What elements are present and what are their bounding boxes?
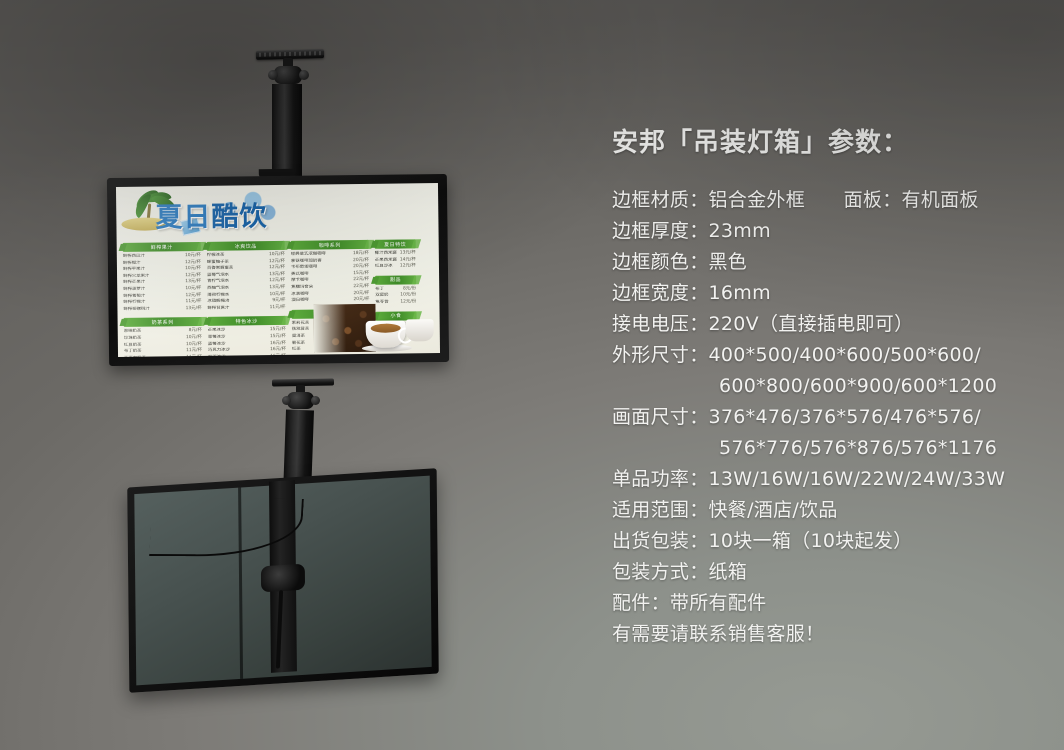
specification-block: 安邦「吊装灯箱」参数： 边框材质：铝合金外框 面板：有机面板边框厚度：23mm边…: [612, 122, 1052, 650]
spec-line: 边框材质：铝合金外框 面板：有机面板: [612, 185, 1052, 216]
lightbox-lower: [127, 468, 439, 693]
lightbox-lower-frame: [127, 468, 439, 693]
product-photo: 夏日酷饮 鲜榨果汁鲜榨西瓜汁10元/杯鲜榨橙汁12元/杯鲜榨苹果汁10元/杯鲜榨…: [0, 0, 600, 750]
spec-line: 配件：带所有配件: [612, 588, 1052, 619]
spec-line: 边框颜色：黑色: [612, 247, 1052, 278]
spec-line: 包装方式：纸箱: [612, 557, 1052, 588]
rail-clamp: [261, 564, 305, 593]
lightbox-aluminium-frame: 夏日酷饮 鲜榨果汁鲜榨西瓜汁10元/杯鲜榨橙汁12元/杯鲜榨苹果汁10元/杯鲜榨…: [107, 174, 449, 366]
menu-category-label: 咖啡系列: [319, 241, 341, 248]
coffee-photo: [313, 303, 438, 353]
menu-item-price: 12元/杯: [397, 264, 416, 271]
spec-title: 安邦「吊装灯箱」参数：: [612, 122, 1052, 159]
menu-item-name: 红茶: [292, 347, 301, 354]
spec-line: 边框厚度：23mm: [612, 216, 1052, 247]
menu-category-header: 夏日特饮: [375, 239, 416, 248]
menu-item-price: 11元/杯: [183, 355, 202, 357]
menu-item-row: 巧克力奶茶11元/杯: [124, 355, 202, 357]
mount-plate-holes: [256, 51, 324, 57]
joint-knob-left: [268, 70, 278, 80]
menu-category-label: 奶茶系列: [152, 319, 174, 326]
menu-item-name: 抹茶冰沙: [208, 354, 226, 357]
menu-category-spacer: [292, 353, 370, 357]
coffee-photo-fade: [313, 303, 438, 353]
lightbox-upper: 夏日酷饮 鲜榨果汁鲜榨西瓜汁10元/杯鲜榨橙汁12元/杯鲜榨苹果汁10元/杯鲜榨…: [107, 174, 449, 366]
spec-line: 外形尺寸：400*500/400*600/500*600/: [612, 340, 1052, 371]
menu-item-price: 13元/杯: [183, 306, 202, 313]
menu-headline: 夏日酷饮: [155, 194, 267, 234]
menu-category-label: 夏日特饮: [384, 240, 406, 247]
joint-knob-right: [299, 70, 309, 80]
menu-item-price: 16元/杯: [267, 354, 286, 357]
menu-category-label: 冰爽饮品: [235, 242, 257, 249]
spec-line: 单品功率：13W/16W/16W/22W/24W/33W: [612, 464, 1052, 495]
menu-category-header: 咖啡系列: [291, 240, 369, 250]
menu-column: 冰爽饮品柠檬冰茶10元/杯蜂蜜柚子茶12元/杯百香果蜂蜜茶12元/杯蓝莓气泡水1…: [207, 241, 287, 357]
menu-category-label: 特色冰沙: [236, 318, 258, 325]
spec-line: 边框宽度：16mm: [612, 278, 1052, 309]
menu-category-header: 特色冰沙: [208, 316, 286, 326]
menu-category-header: 甜品: [375, 275, 416, 284]
menu-headline-part1: 夏日: [155, 202, 211, 234]
menu-column: 鲜榨果汁鲜榨西瓜汁10元/杯鲜榨橙汁12元/杯鲜榨苹果汁10元/杯鲜榨火龙果汁1…: [123, 242, 203, 357]
menu-item-name: 澳白咖啡: [291, 298, 309, 305]
spec-line: 适用范围：快餐/酒店/饮品: [612, 495, 1052, 526]
menu-category-header: 鲜榨果汁: [123, 242, 201, 252]
menu-category-label: 鲜榨果汁: [151, 243, 173, 250]
spec-line: 576*776/576*876/576*1176: [612, 433, 1052, 464]
spec-line: 600*800/600*900/600*1200: [612, 371, 1052, 402]
spec-line: 接电电压：220V（直接插电即可）: [612, 309, 1052, 340]
joint-ball: [274, 66, 302, 84]
lightbox-back-panel: [134, 476, 431, 686]
menu-title-banner: 夏日酷饮: [121, 188, 302, 242]
menu-item-name: 鲜榨甘蔗汁: [207, 305, 229, 312]
menu-item-price: 11元/杯: [267, 305, 286, 312]
menu-item-price: 20元/杯: [350, 297, 369, 304]
spec-line: 有需要请联系销售客服！: [612, 619, 1052, 650]
lightbox-menu-panel: 夏日酷饮 鲜榨果汁鲜榨西瓜汁10元/杯鲜榨橙汁12元/杯鲜榨苹果汁10元/杯鲜榨…: [116, 183, 440, 357]
menu-headline-part2: 酷饮: [211, 201, 267, 233]
menu-item-row: 抹茶冰沙16元/杯: [208, 354, 286, 357]
product-detail-image: 夏日酷饮 鲜榨果汁鲜榨西瓜汁10元/杯鲜榨橙汁12元/杯鲜榨苹果汁10元/杯鲜榨…: [0, 0, 1064, 750]
spec-line: 画面尺寸：376*476/376*576/476*576/: [612, 402, 1052, 433]
spec-list: 边框材质：铝合金外框 面板：有机面板边框厚度：23mm边框颜色：黑色边框宽度：1…: [612, 185, 1052, 650]
menu-category-label: 甜品: [390, 276, 401, 283]
menu-item-name: 鲜榨猕猴桃汁: [123, 306, 149, 313]
menu-category-header: 奶茶系列: [124, 317, 202, 327]
menu-item-name: 红豆沙冰: [375, 264, 393, 271]
spec-line: 出货包装：10块一箱（10块起发）: [612, 526, 1052, 557]
menu-item-name: 巧克力奶茶: [124, 355, 146, 357]
menu-category-header: 冰爽饮品: [207, 241, 285, 251]
